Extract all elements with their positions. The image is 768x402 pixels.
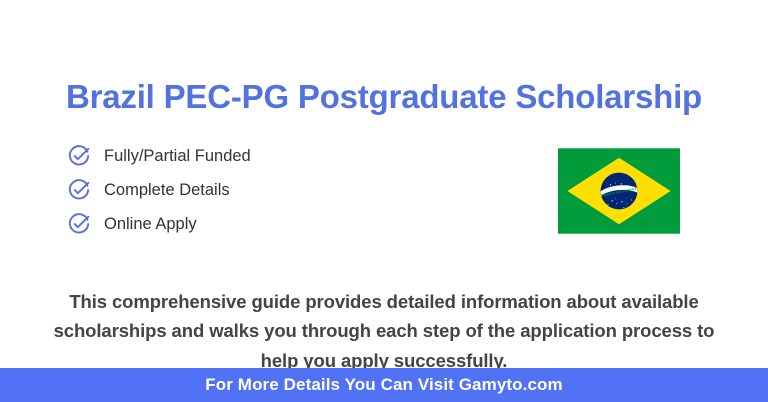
feature-list: Fully/Partial Funded Complete Details On… <box>68 145 251 235</box>
footer-banner-text: For More Details You Can Visit Gamyto.co… <box>205 375 562 395</box>
check-circle-icon <box>68 145 90 167</box>
list-item-label: Fully/Partial Funded <box>104 148 251 165</box>
footer-banner[interactable]: For More Details You Can Visit Gamyto.co… <box>0 368 768 402</box>
list-item-label: Online Apply <box>104 216 197 233</box>
list-item: Fully/Partial Funded <box>68 145 251 167</box>
check-circle-icon <box>68 213 90 235</box>
description-text: This comprehensive guide provides detail… <box>44 287 724 377</box>
page-title: Brazil PEC-PG Postgraduate Scholarship <box>0 77 768 117</box>
check-circle-icon <box>68 179 90 201</box>
list-item-label: Complete Details <box>104 182 230 199</box>
list-item: Complete Details <box>68 179 251 201</box>
brazil-flag: ORDEM E PROGRESSO <box>558 147 680 235</box>
scholarship-poster: Brazil PEC-PG Postgraduate Scholarship F… <box>0 0 768 402</box>
list-item: Online Apply <box>68 213 251 235</box>
